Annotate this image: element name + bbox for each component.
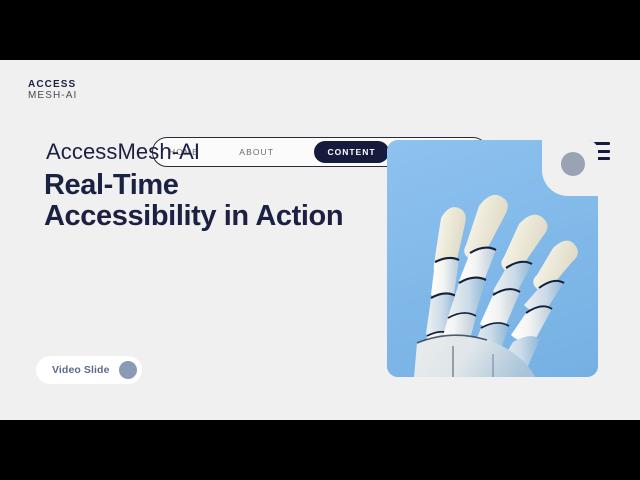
letterbox-top-bar	[0, 0, 640, 60]
nav-item-content[interactable]: CONTENT	[314, 141, 388, 163]
media-panel[interactable]	[387, 140, 598, 377]
slide-canvas: ACCESS MESH-AI HOME ABOUT CONTENT OTHERS…	[0, 60, 640, 420]
slide-screen: ACCESS MESH-AI HOME ABOUT CONTENT OTHERS…	[0, 0, 640, 480]
video-slide-dot-icon	[119, 361, 137, 379]
letterbox-bottom-bar	[0, 420, 640, 480]
media-notch-dot-icon	[561, 152, 585, 176]
hero-eyebrow: AccessMesh-AI	[46, 139, 200, 165]
video-slide-label: Video Slide	[52, 364, 110, 376]
hero-headline: Real-Time Accessibility in Action	[44, 170, 344, 232]
brand-logo[interactable]: ACCESS MESH-AI	[28, 79, 77, 101]
brand-name-secondary: MESH-AI	[28, 90, 77, 101]
brand-name-primary: ACCESS	[28, 79, 77, 90]
video-slide-badge[interactable]: Video Slide	[36, 356, 142, 384]
nav-item-about[interactable]: ABOUT	[239, 147, 274, 157]
